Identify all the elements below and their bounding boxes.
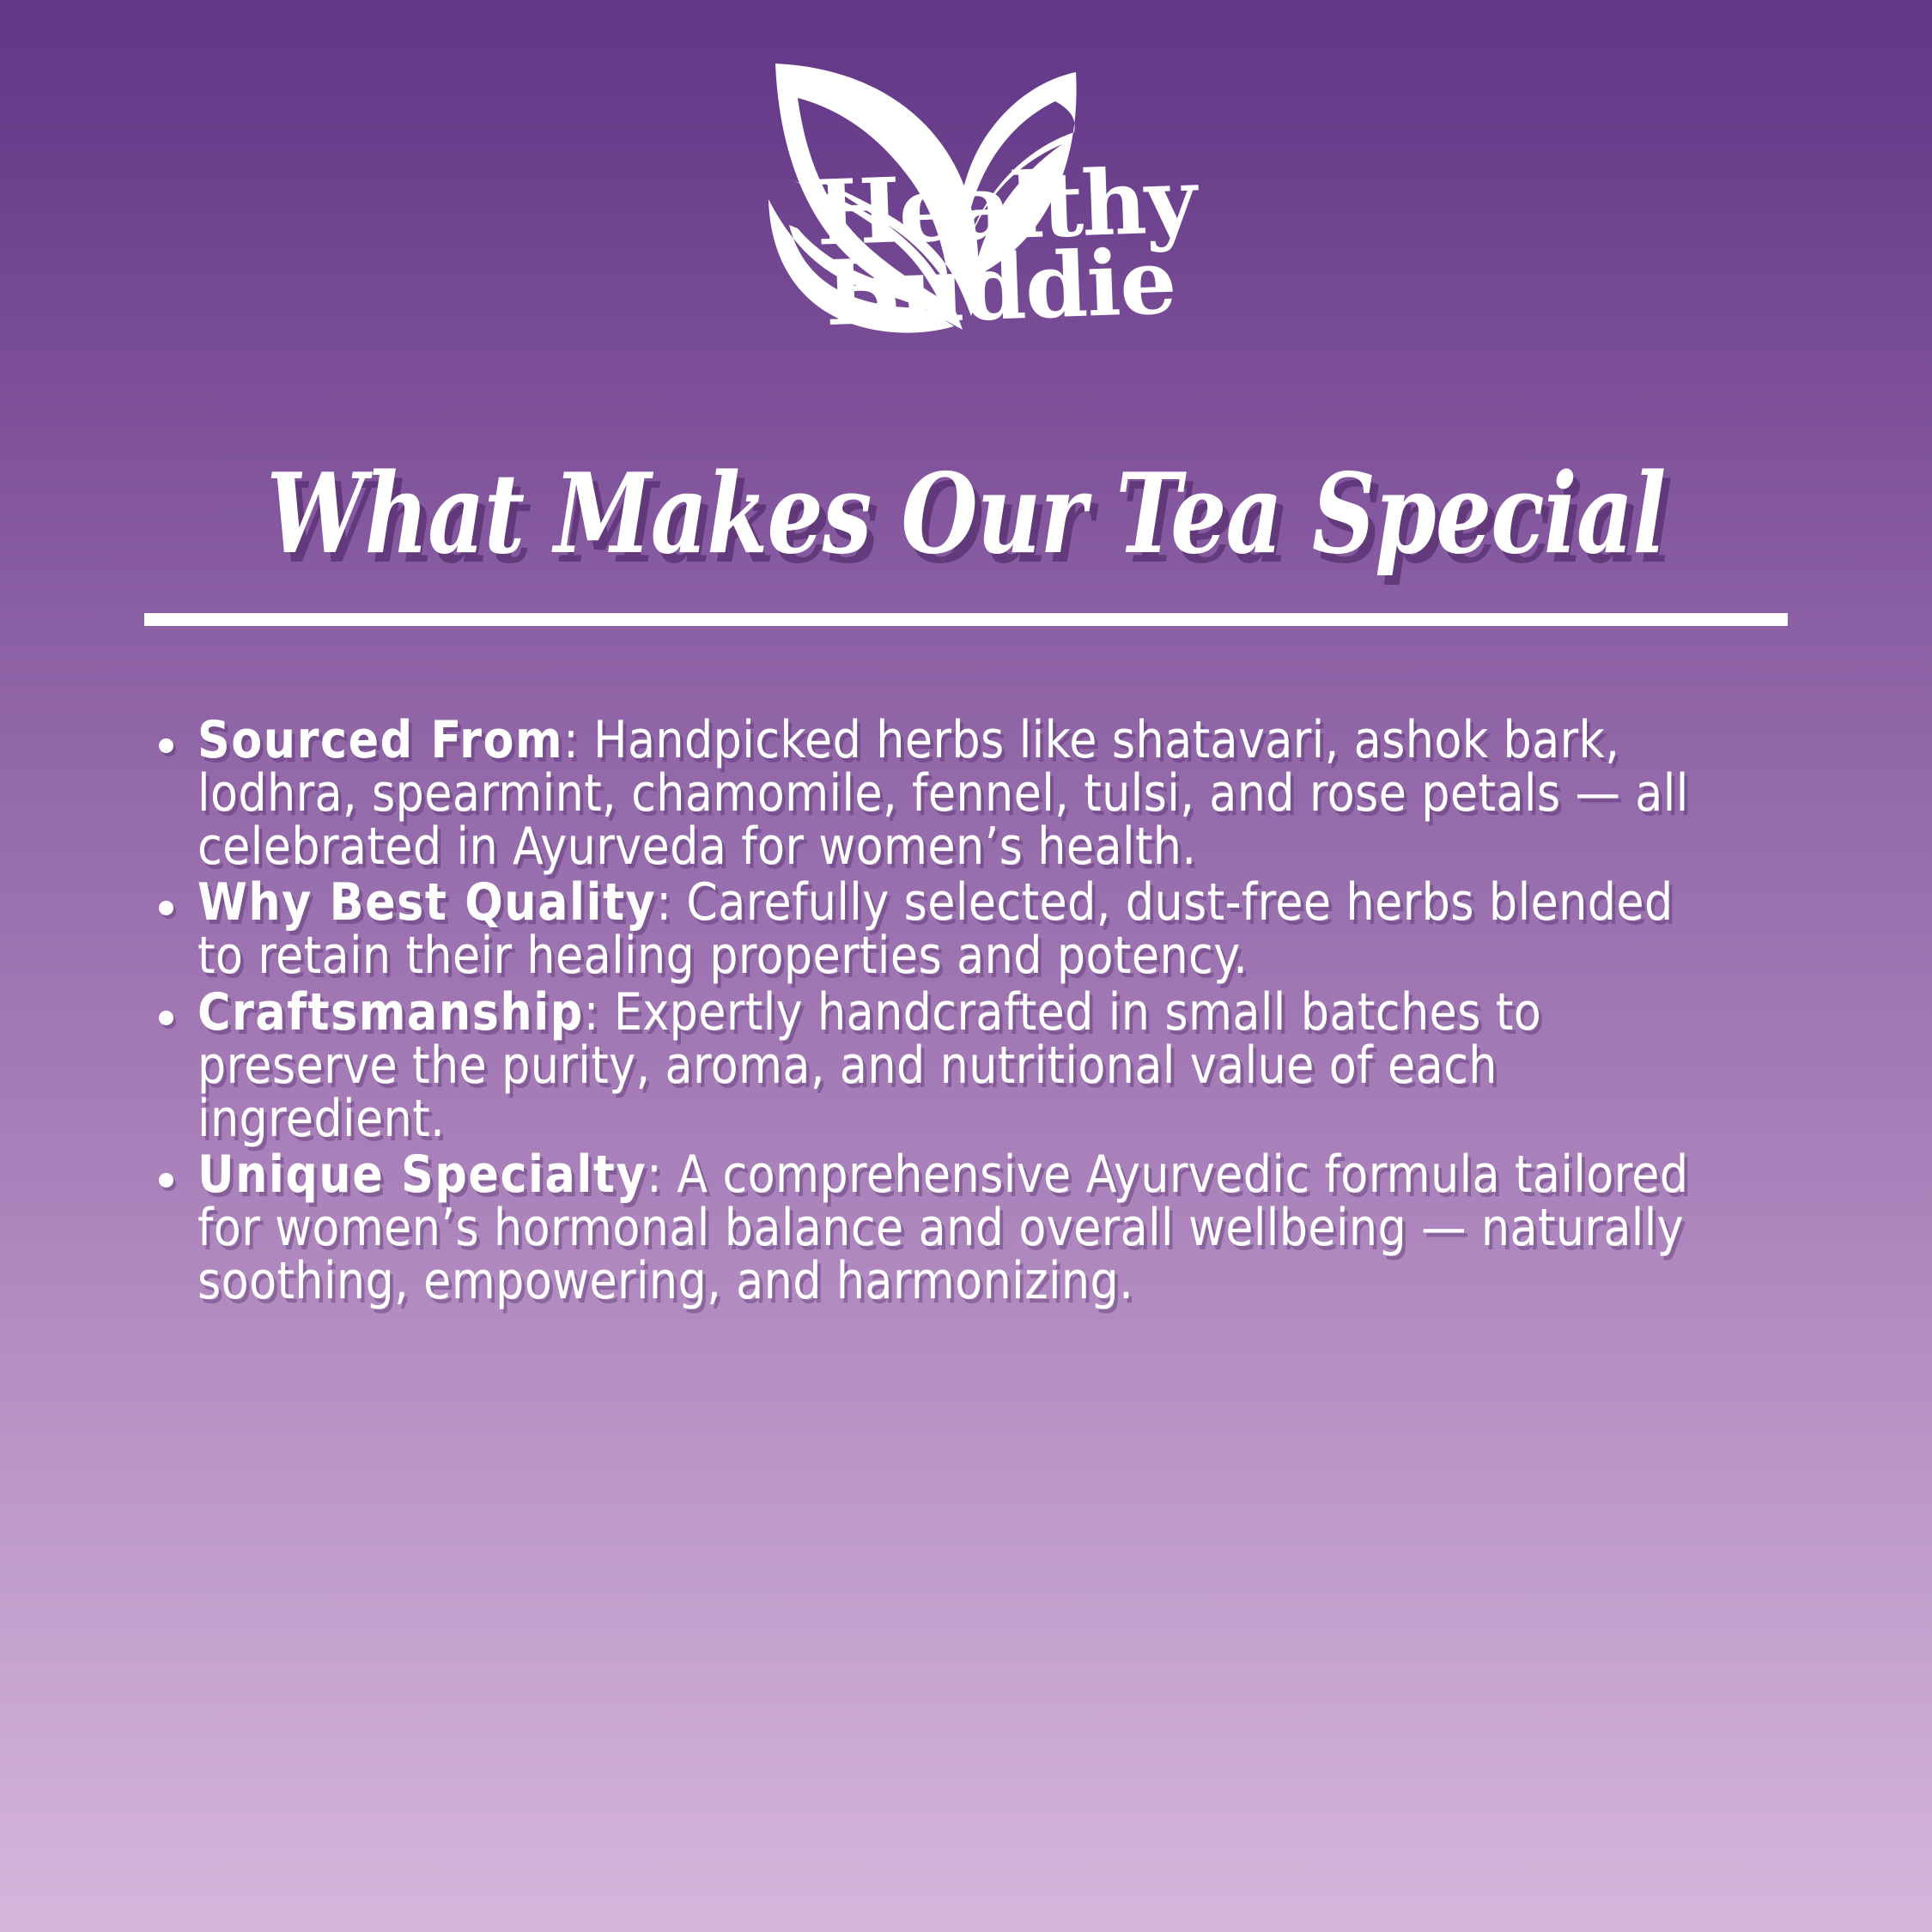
list-item: Unique Specialty: A comprehensive Ayurve… <box>144 1149 1827 1308</box>
list-item-label: Unique Specialty <box>197 1145 647 1205</box>
bullet-dot-icon <box>159 1173 173 1188</box>
title-divider <box>144 613 1788 626</box>
list-item-content: Craftsmanship: Expertly handcrafted in s… <box>197 987 1755 1145</box>
poster-canvas: Healthy Buddie What Makes Our Tea Specia… <box>0 0 1932 1932</box>
list-item-content: Unique Specialty: A comprehensive Ayurve… <box>197 1149 1722 1308</box>
leaf-butterfly-icon <box>760 53 1172 371</box>
feature-list: Sourced From: Handpicked herbs like shat… <box>144 714 1827 1312</box>
bullet-dot-icon <box>159 738 173 753</box>
list-item-content: Why Best Quality: Carefully selected, du… <box>197 877 1722 983</box>
list-item-label: Why Best Quality <box>197 872 656 933</box>
list-item-separator: : <box>656 872 686 933</box>
list-item: Sourced From: Handpicked herbs like shat… <box>144 714 1827 873</box>
list-item-separator: : <box>563 710 593 770</box>
list-item: Why Best Quality: Carefully selected, du… <box>144 877 1827 983</box>
page-title: What Makes Our Tea Special <box>193 459 1739 569</box>
list-item-label: Sourced From <box>197 710 563 770</box>
list-item-content: Sourced From: Handpicked herbs like shat… <box>197 714 1697 873</box>
brand-logo <box>0 53 1932 371</box>
bullet-dot-icon <box>159 901 173 915</box>
bullet-dot-icon <box>159 1011 173 1025</box>
list-item-label: Craftsmanship <box>197 982 584 1042</box>
list-item: Craftsmanship: Expertly handcrafted in s… <box>144 987 1827 1145</box>
list-item-separator: : <box>647 1145 677 1205</box>
list-item-separator: : <box>584 982 614 1042</box>
